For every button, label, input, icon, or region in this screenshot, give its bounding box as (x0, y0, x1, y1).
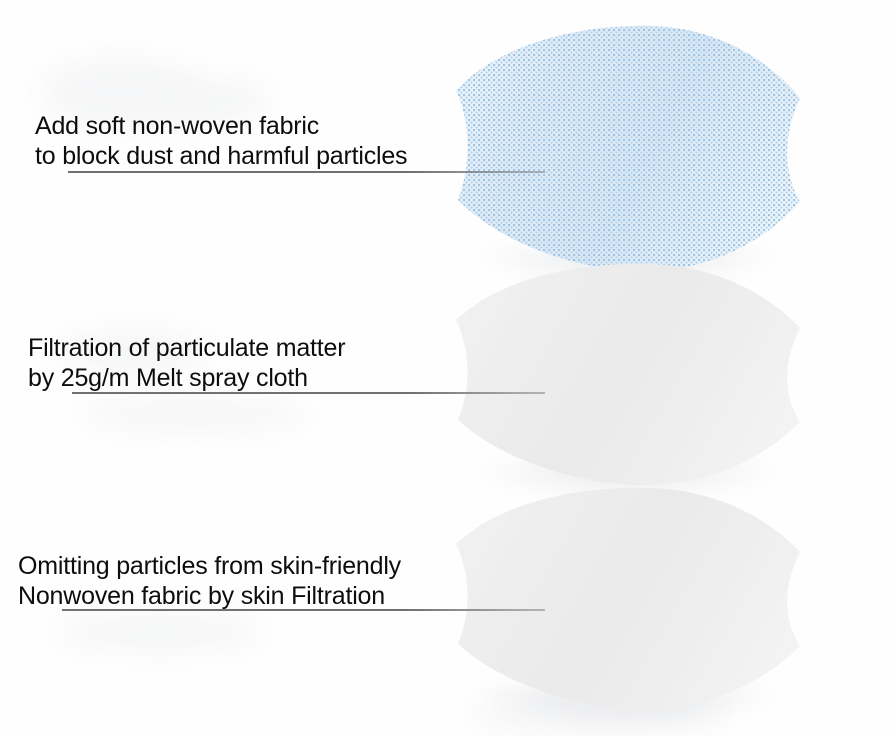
mask-layers-diagram: Add soft non-woven fabric to block dust … (0, 0, 892, 736)
callout-middle-line2: by 25g/m Melt spray cloth (28, 363, 345, 393)
mask-layer-outer (448, 24, 808, 272)
callout-inner-line2: Nonwoven fabric by skin Filtration (18, 581, 401, 611)
background-artifact (80, 396, 310, 432)
layer-surface-outer (448, 24, 808, 272)
callout-inner-layer: Omitting particles from skin-friendly No… (18, 551, 401, 611)
layer-surface-inner (448, 486, 808, 710)
callout-middle-line1: Filtration of particulate matter (28, 334, 345, 362)
mask-layer-inner (448, 486, 808, 710)
callout-middle-layer: Filtration of particulate matter by 25g/… (28, 333, 345, 393)
callout-outer-line1: Add soft non-woven fabric (35, 112, 319, 140)
background-artifact (55, 612, 265, 652)
mask-layer-middle (448, 262, 808, 486)
callout-inner-line1: Omitting particles from skin-friendly (18, 552, 401, 580)
callout-outer-line2: to block dust and harmful particles (35, 141, 407, 171)
layer-surface-middle (448, 262, 808, 486)
callout-outer-layer: Add soft non-woven fabric to block dust … (35, 111, 407, 171)
leader-line-outer (68, 171, 545, 173)
